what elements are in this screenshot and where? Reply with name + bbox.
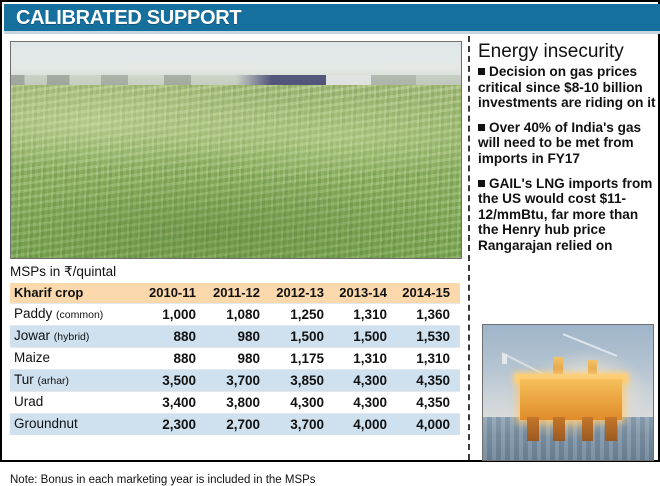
table-row: Tur (arhar) 3,500 3,700 3,850 4,300 4,35…	[10, 370, 460, 392]
cell-value: 1,250	[270, 304, 334, 326]
vertical-dashed-divider	[468, 36, 470, 460]
cell-value: 1,310	[397, 348, 460, 370]
page-title: CALIBRATED SUPPORT	[16, 7, 241, 30]
row-crop-name: Groundnut	[10, 414, 142, 436]
row-crop-name: Urad	[10, 392, 142, 414]
cell-value: 1,360	[397, 304, 460, 326]
cell-value: 4,000	[334, 414, 397, 436]
crop-variety: (hybrid)	[54, 331, 90, 343]
table-row: Jowar (hybrid) 880 980 1,500 1,500 1,530	[10, 326, 460, 348]
cell-value: 4,350	[397, 370, 460, 392]
column-header-crop: Kharif crop	[10, 283, 142, 304]
cell-value: 4,300	[334, 370, 397, 392]
crop-name: Maize	[14, 350, 50, 365]
cell-value: 3,400	[142, 392, 206, 414]
cell-value: 3,800	[206, 392, 270, 414]
cell-value: 4,300	[334, 392, 397, 414]
photo-platform-leg	[527, 417, 539, 441]
list-item: Decision on gas prices critical since $8…	[478, 64, 656, 111]
crop-name: Urad	[14, 394, 43, 409]
msp-unit-label: MSPs in ₹/quintal	[10, 264, 116, 280]
bullet-text: Over 40% of India's gas will need to be …	[478, 120, 641, 166]
bullet-text: GAIL's LNG imports from the US would cos…	[478, 176, 652, 253]
column-header-2011-12: 2011-12	[206, 283, 270, 304]
table-note: Note: Bonus in each marketing year is in…	[10, 474, 316, 486]
crop-name: Paddy	[14, 306, 52, 321]
photo-platform-leg	[582, 417, 594, 441]
column-header-2012-13: 2012-13	[270, 283, 334, 304]
cell-value: 3,700	[206, 370, 270, 392]
photo-crop-field	[11, 85, 461, 258]
row-crop-name: Jowar (hybrid)	[10, 326, 142, 348]
column-header-2010-11: 2010-11	[142, 283, 206, 304]
row-crop-name: Maize	[10, 348, 142, 370]
sidebar-heading: Energy insecurity	[478, 41, 624, 63]
cell-value: 2,700	[206, 414, 270, 436]
photo-sea	[483, 417, 653, 460]
right-column: Energy insecurity Decision on gas prices…	[478, 36, 658, 460]
cell-value: 3,500	[142, 370, 206, 392]
table-row: Paddy (common) 1,000 1,080 1,250 1,310 1…	[10, 304, 460, 326]
photo-platform-leg	[553, 417, 565, 441]
cell-value: 1,500	[270, 326, 334, 348]
cell-value: 3,850	[270, 370, 334, 392]
row-crop-name: Paddy (common)	[10, 304, 142, 326]
table-row: Urad 3,400 3,800 4,300 4,300 4,350	[10, 392, 460, 414]
row-crop-name: Tur (arhar)	[10, 370, 142, 392]
cell-value: 1,530	[397, 326, 460, 348]
table-row: Groundnut 2,300 2,700 3,700 4,000 4,000	[10, 414, 460, 436]
crop-name: Groundnut	[14, 416, 78, 431]
square-bullet-icon	[478, 180, 485, 187]
cell-value: 1,175	[270, 348, 334, 370]
cell-value: 880	[142, 348, 206, 370]
photo-platform-body	[520, 379, 622, 420]
list-item: Over 40% of India's gas will need to be …	[478, 120, 656, 167]
crop-variety: (common)	[56, 309, 103, 321]
crop-field-photo	[10, 41, 462, 259]
header-banner: CALIBRATED SUPPORT	[4, 4, 660, 31]
crop-name: Tur	[14, 372, 34, 387]
cell-value: 1,310	[334, 304, 397, 326]
square-bullet-icon	[478, 124, 485, 131]
infographic-root: CALIBRATED SUPPORT MSPs in ₹/quintal Kha…	[0, 0, 660, 462]
photo-platform-leg	[605, 417, 617, 441]
square-bullet-icon	[478, 68, 485, 75]
cell-value: 980	[206, 348, 270, 370]
cell-value: 880	[142, 326, 206, 348]
cell-value: 1,000	[142, 304, 206, 326]
msp-table: Kharif crop 2010-11 2011-12 2012-13 2013…	[10, 283, 460, 435]
oil-rig-photo	[482, 324, 654, 461]
column-header-2013-14: 2013-14	[334, 283, 397, 304]
cell-value: 1,310	[334, 348, 397, 370]
table-header-row: Kharif crop 2010-11 2011-12 2012-13 2013…	[10, 283, 460, 304]
sidebar-bullet-list: Decision on gas prices critical since $8…	[478, 64, 656, 263]
column-header-2014-15: 2014-15	[397, 283, 460, 304]
cell-value: 1,080	[206, 304, 270, 326]
crop-variety: (arhar)	[38, 375, 70, 387]
cell-value: 4,350	[397, 392, 460, 414]
cell-value: 4,300	[270, 392, 334, 414]
cell-value: 4,000	[397, 414, 460, 436]
crop-name: Jowar	[14, 328, 50, 343]
left-column: MSPs in ₹/quintal Kharif crop 2010-11 20…	[4, 34, 466, 460]
cell-value: 3,700	[270, 414, 334, 436]
cell-value: 1,500	[334, 326, 397, 348]
cell-value: 2,300	[142, 414, 206, 436]
bullet-text: Decision on gas prices critical since $8…	[478, 64, 656, 110]
table-row: Maize 880 980 1,175 1,310 1,310	[10, 348, 460, 370]
cell-value: 980	[206, 326, 270, 348]
list-item: GAIL's LNG imports from the US would cos…	[478, 176, 656, 254]
